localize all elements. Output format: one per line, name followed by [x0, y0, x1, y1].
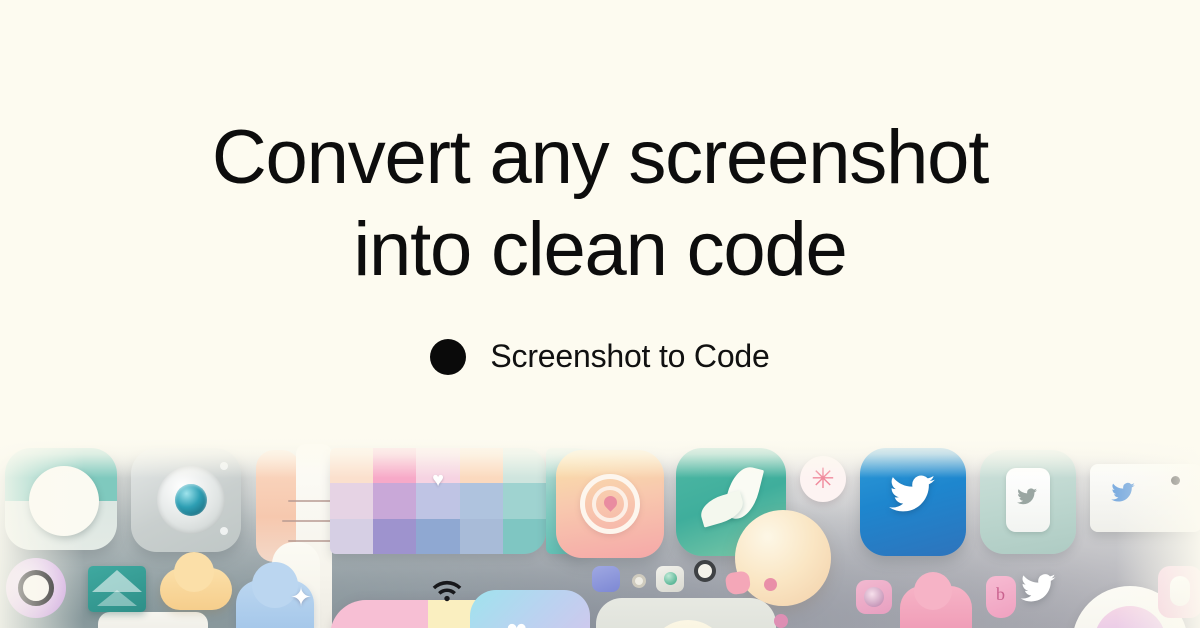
sparkle-icon: ✦: [288, 584, 314, 610]
swatch: [373, 483, 416, 518]
page-title: Convert any screenshot into clean code: [212, 112, 988, 296]
headline-line-1: Convert any screenshot: [212, 115, 988, 200]
yellow-cloud: [160, 568, 232, 610]
swatch: [460, 483, 503, 518]
envelope: [88, 566, 146, 612]
hero-section: Convert any screenshot into clean code S…: [0, 0, 1200, 440]
og-card: Convert any screenshot into clean code S…: [0, 0, 1200, 628]
pink-tag-icon: [986, 576, 1016, 618]
mini-bead-icon: [774, 614, 788, 628]
illustration-strip: ♥ ✳: [0, 438, 1200, 628]
peach-sphere: [735, 510, 831, 606]
headline-line-2: into clean code: [212, 204, 988, 296]
camera-dot-icon: [220, 527, 228, 535]
ring-icon: [18, 570, 54, 606]
brand-name: Screenshot to Code: [490, 338, 769, 375]
strip-top-fade: [0, 438, 1200, 478]
mini-blue-tile: [592, 566, 620, 592]
swatch: [330, 483, 373, 518]
lavender-ring: [6, 558, 66, 618]
mini-bead-icon: [764, 578, 777, 591]
pink-cloud: [900, 586, 972, 628]
swatch: [330, 519, 373, 554]
gradient-circle-icon: [1094, 606, 1166, 628]
blue-bird-icon: [1108, 480, 1138, 506]
white-bird-icon: [1016, 570, 1060, 608]
wifi-icon: [430, 578, 464, 604]
swatch: [460, 519, 503, 554]
heart-icon: ♥: [506, 614, 527, 628]
brand-lockup: Screenshot to Code: [430, 338, 769, 375]
swatch: [373, 519, 416, 554]
white-plate-small: [98, 612, 208, 628]
plate-inner: [648, 620, 728, 628]
pink-app-icon: [856, 580, 892, 614]
swatch: [416, 519, 459, 554]
envelope-icon: [92, 570, 142, 592]
camera-lens-icon: [175, 484, 207, 516]
mini-dot-icon: [632, 574, 646, 588]
swatch: [503, 483, 546, 518]
pink-pill-icon: [1158, 566, 1200, 618]
envelope-flap-icon: [97, 590, 137, 606]
leaf-icon: [697, 490, 746, 527]
black-circle-logo-icon: [430, 339, 466, 375]
bird-icon: [1015, 486, 1039, 508]
gear-icon: [694, 560, 716, 582]
cyan-heart-tile: ♥: [470, 590, 590, 628]
mini-camera-icon: [656, 566, 684, 592]
grey-plate: [596, 598, 776, 628]
